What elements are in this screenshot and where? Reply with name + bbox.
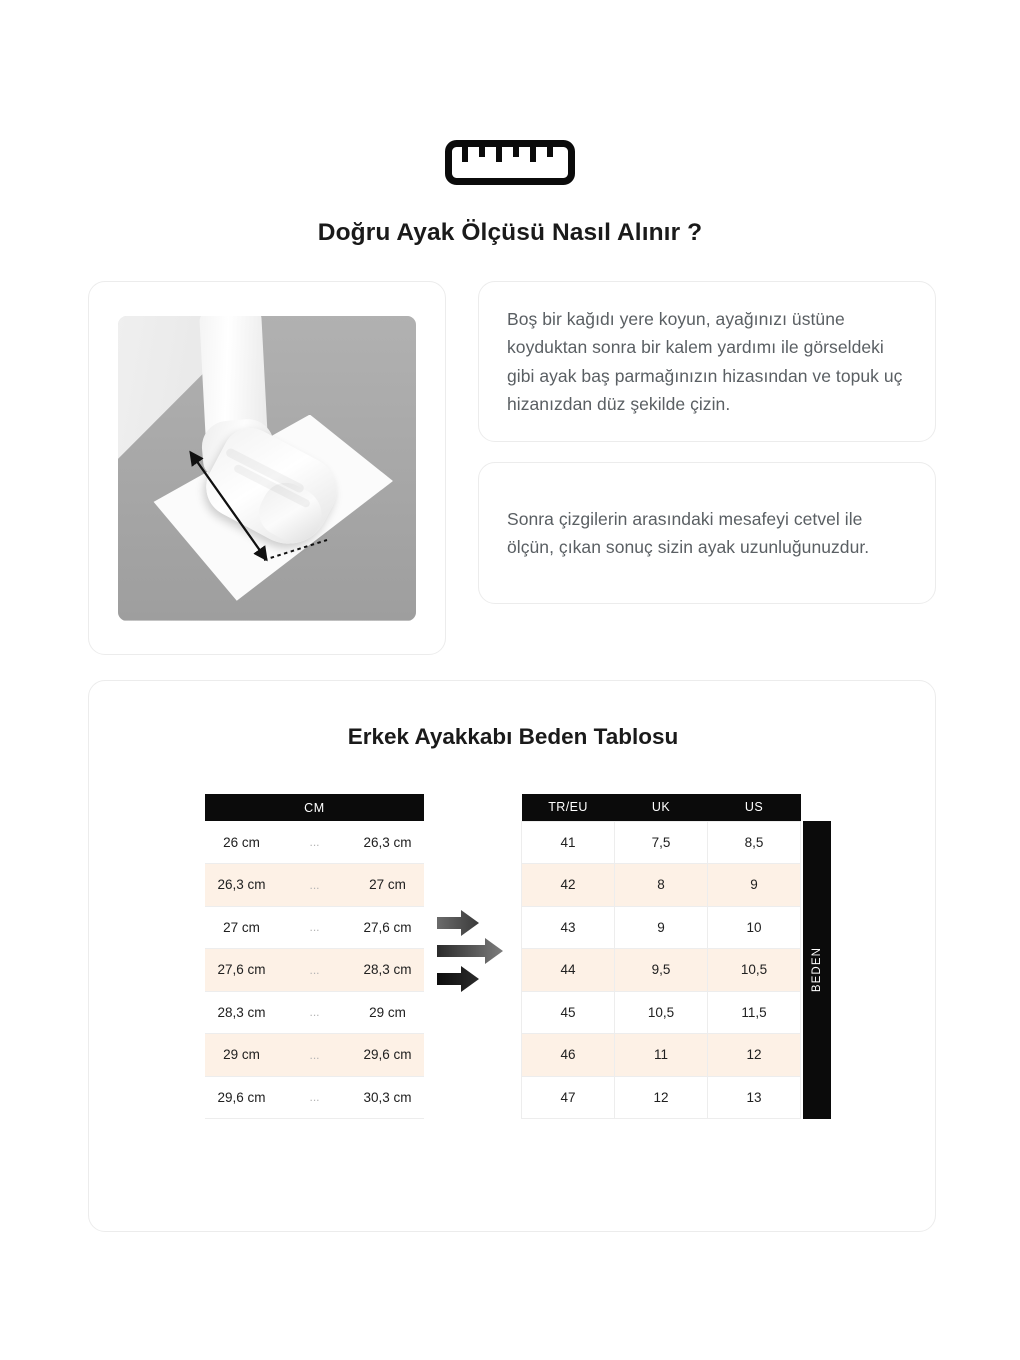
size-table-row: 43910 (522, 906, 801, 949)
size-cell-uk: 11 (615, 1034, 708, 1077)
size-cell-uk: 7,5 (615, 821, 708, 864)
instruction-card-2: Sonra çizgilerin arasındaki mesafeyi cet… (478, 462, 936, 604)
size-cell-tr-eu: 46 (522, 1034, 615, 1077)
size-cell-us: 12 (708, 1034, 801, 1077)
beden-label-text: BEDEN (811, 947, 823, 992)
cm-range-to: 29,6 cm (351, 1034, 424, 1077)
photo-measure-arrow (118, 316, 416, 621)
instruction-text-2: Sonra çizgilerin arasındaki mesafeyi cet… (507, 505, 907, 562)
size-cell-uk: 9,5 (615, 949, 708, 992)
size-cell-tr-eu: 41 (522, 821, 615, 864)
cm-range-to: 27 cm (351, 864, 424, 907)
size-cell-uk: 8 (615, 864, 708, 907)
cm-range-to: 30,3 cm (351, 1076, 424, 1119)
size-cell-tr-eu: 44 (522, 949, 615, 992)
size-table-title: Erkek Ayakkabı Beden Tablosu (89, 724, 937, 750)
size-cell-uk: 12 (615, 1076, 708, 1119)
cm-table-row: 26 cm...26,3 cm (205, 821, 424, 864)
size-cell-tr-eu: 47 (522, 1076, 615, 1119)
instruction-photo-card (88, 281, 446, 655)
size-cell-us: 10,5 (708, 949, 801, 992)
size-cell-tr-eu: 45 (522, 991, 615, 1034)
size-cell-us: 13 (708, 1076, 801, 1119)
size-table-wrapper: TR/EUUKUS 417,58,5428943910449,510,54510… (521, 794, 801, 1119)
cm-table-head: CM (205, 794, 424, 821)
size-cell-tr-eu: 42 (522, 864, 615, 907)
cm-range-to: 27,6 cm (351, 906, 424, 949)
cm-table-row: 27,6 cm...28,3 cm (205, 949, 424, 992)
size-table-card: Erkek Ayakkabı Beden Tablosu CM 26 cm...… (88, 680, 936, 1232)
cm-range-separator: ... (278, 1034, 351, 1077)
cm-range-from: 26 cm (205, 821, 278, 864)
size-table-header-cell: UK (615, 794, 708, 821)
cm-table: CM 26 cm...26,3 cm26,3 cm...27 cm27 cm..… (205, 794, 424, 1119)
size-cell-uk: 10,5 (615, 991, 708, 1034)
ruler-icon-container (0, 140, 1020, 185)
cm-range-from: 26,3 cm (205, 864, 278, 907)
size-table-row: 461112 (522, 1034, 801, 1077)
cm-range-to: 29 cm (351, 991, 424, 1034)
cm-table-row: 26,3 cm...27 cm (205, 864, 424, 907)
page-title: Doğru Ayak Ölçüsü Nasıl Alınır ? (0, 219, 1020, 247)
cm-range-from: 27,6 cm (205, 949, 278, 992)
arrows-svg (435, 907, 513, 1007)
size-table-row: 4510,511,5 (522, 991, 801, 1034)
cm-range-separator: ... (278, 906, 351, 949)
size-cell-uk: 9 (615, 906, 708, 949)
cm-table-row: 28,3 cm...29 cm (205, 991, 424, 1034)
cm-table-row: 27 cm...27,6 cm (205, 906, 424, 949)
size-table-header-cell: US (708, 794, 801, 821)
size-cell-us: 11,5 (708, 991, 801, 1034)
size-table: TR/EUUKUS 417,58,5428943910449,510,54510… (521, 794, 801, 1119)
cm-range-to: 26,3 cm (351, 821, 424, 864)
cm-range-separator: ... (278, 821, 351, 864)
beden-vertical-label: BEDEN (803, 821, 831, 1119)
size-table-header-row: TR/EUUKUS (522, 794, 801, 821)
cm-range-separator: ... (278, 864, 351, 907)
arrow-right-darkgray (437, 938, 503, 964)
size-cell-tr-eu: 43 (522, 906, 615, 949)
cm-range-separator: ... (278, 1076, 351, 1119)
foot-measurement-photo (118, 316, 416, 621)
size-table-body: 417,58,5428943910449,510,54510,511,54611… (522, 821, 801, 1119)
ruler-icon (445, 140, 575, 185)
cm-range-from: 29,6 cm (205, 1076, 278, 1119)
cm-range-from: 28,3 cm (205, 991, 278, 1034)
arrow-right-black (437, 966, 479, 992)
cm-range-separator: ... (278, 991, 351, 1034)
size-cell-us: 10 (708, 906, 801, 949)
cm-table-header-cell: CM (205, 794, 424, 821)
size-table-row: 417,58,5 (522, 821, 801, 864)
cm-table-row: 29 cm...29,6 cm (205, 1034, 424, 1077)
size-table-row: 4289 (522, 864, 801, 907)
size-table-header-cell: TR/EU (522, 794, 615, 821)
size-table-row: 449,510,5 (522, 949, 801, 992)
cm-table-header-row: CM (205, 794, 424, 821)
instruction-text-1: Boş bir kağıdı yere koyun, ayağınızı üst… (507, 305, 907, 418)
cm-range-from: 27 cm (205, 906, 278, 949)
instruction-card-1: Boş bir kağıdı yere koyun, ayağınızı üst… (478, 281, 936, 442)
size-cell-us: 9 (708, 864, 801, 907)
cm-table-row: 29,6 cm...30,3 cm (205, 1076, 424, 1119)
cm-range-separator: ... (278, 949, 351, 992)
size-table-head: TR/EUUKUS (522, 794, 801, 821)
cm-range-to: 28,3 cm (351, 949, 424, 992)
size-guide-page: Doğru Ayak Ölçüsü Nasıl Alınır ? (0, 0, 1020, 1360)
conversion-arrows (435, 907, 513, 1007)
arrow-right-gray (437, 910, 479, 936)
size-table-row: 471213 (522, 1076, 801, 1119)
cm-range-from: 29 cm (205, 1034, 278, 1077)
cm-table-body: 26 cm...26,3 cm26,3 cm...27 cm27 cm...27… (205, 821, 424, 1119)
size-cell-us: 8,5 (708, 821, 801, 864)
